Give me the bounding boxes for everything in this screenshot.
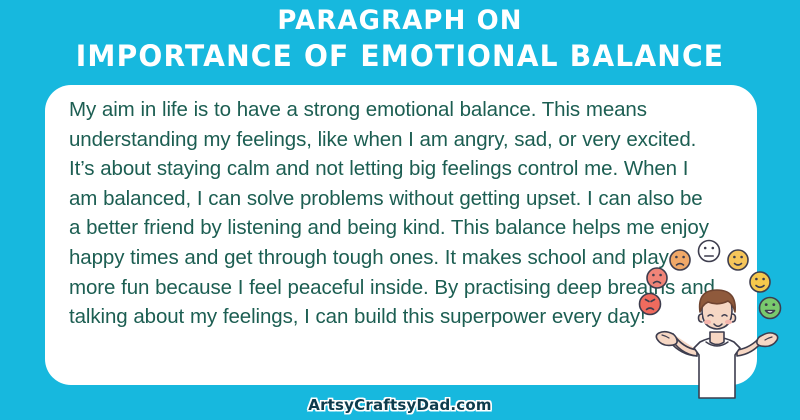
site-credit: ArtsyCraftsyDad.com — [0, 396, 800, 414]
title-line-2: Importance Of Emotional Balance — [12, 38, 788, 75]
poster-canvas: Paragraph On Importance Of Emotional Bal… — [0, 0, 800, 420]
emoji-face-happy-green — [760, 298, 781, 319]
poster-title: Paragraph On Importance Of Emotional Bal… — [0, 4, 800, 75]
paragraph-card: My aim in life is to have a strong emoti… — [45, 85, 757, 385]
title-line-1: Paragraph On — [16, 4, 784, 38]
paragraph-text: My aim in life is to have a strong emoti… — [69, 95, 719, 332]
